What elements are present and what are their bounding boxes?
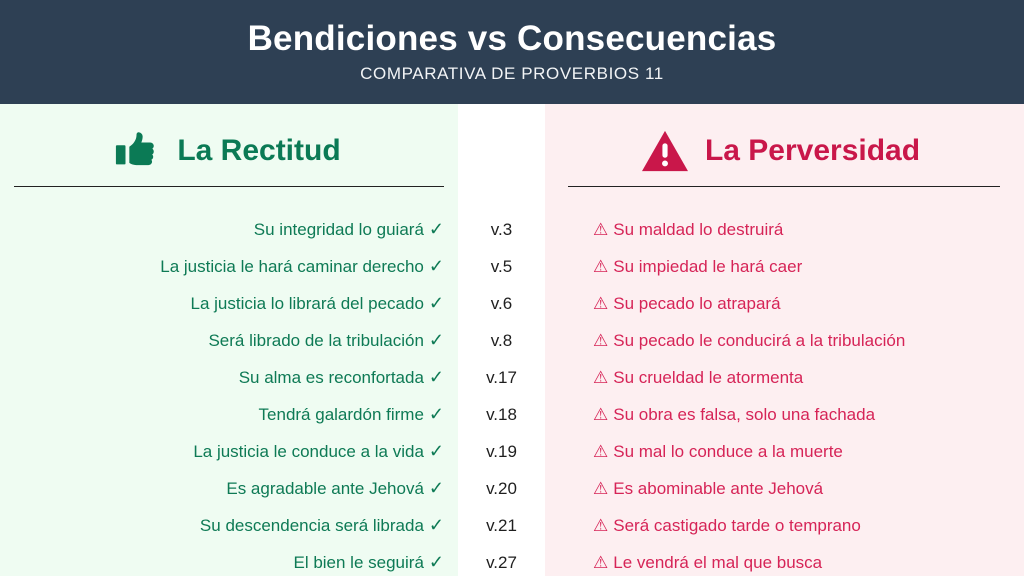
blessing-text: La justicia le hará caminar derecho (160, 257, 424, 276)
check-icon: ✓ (429, 256, 444, 276)
consequence-text: Su pecado le conducirá a la tribulación (613, 331, 905, 350)
table-row: Tendrá galardón firme✓v.18⚠Su obra es fa… (0, 396, 1024, 433)
left-header-divider (14, 186, 444, 187)
consequence-cell: ⚠Será castigado tarde o temprano (545, 516, 1024, 536)
blessing-text: Su descendencia será librada (200, 516, 424, 535)
page-subtitle: COMPARATIVA DE PROVERBIOS 11 (360, 65, 664, 84)
blessing-text: El bien le seguirá (293, 553, 423, 572)
consequence-text: Su mal lo conduce a la muerte (613, 442, 843, 461)
check-icon: ✓ (429, 330, 444, 350)
check-icon: ✓ (429, 478, 444, 498)
table-row: Será librado de la tribulación✓v.8⚠Su pe… (0, 322, 1024, 359)
check-icon: ✓ (429, 367, 444, 387)
table-row: La justicia le hará caminar derecho✓v.5⚠… (0, 248, 1024, 285)
right-column-header: La Perversidad (545, 122, 1024, 180)
title-band: Bendiciones vs Consecuencias COMPARATIVA… (0, 0, 1024, 104)
verse-label: v.5 (458, 257, 545, 277)
check-icon: ✓ (429, 515, 444, 535)
table-row: La justicia le conduce a la vida✓v.19⚠Su… (0, 433, 1024, 470)
blessing-cell: Es agradable ante Jehová✓ (0, 478, 458, 499)
left-column-header: La Rectitud (0, 122, 458, 180)
blessing-cell: La justicia le conduce a la vida✓ (0, 441, 458, 462)
consequence-cell: ⚠Su obra es falsa, solo una fachada (545, 405, 1024, 425)
consequence-text: Le vendrá el mal que busca (613, 553, 822, 572)
blessing-cell: La justicia lo librará del pecado✓ (0, 293, 458, 314)
table-row: Su alma es reconfortada✓v.17⚠Su crueldad… (0, 359, 1024, 396)
blessing-cell: Su descendencia será librada✓ (0, 515, 458, 536)
verse-label: v.19 (458, 442, 545, 462)
blessing-text: La justicia lo librará del pecado (190, 294, 423, 313)
thumbs-up-icon (111, 125, 163, 177)
consequence-cell: ⚠Su maldad lo destruirá (545, 220, 1024, 240)
consequence-cell: ⚠Su mal lo conduce a la muerte (545, 442, 1024, 462)
blessing-text: Tendrá galardón firme (259, 405, 424, 424)
right-header-divider (568, 186, 1000, 187)
warning-triangle-icon (639, 125, 691, 177)
blessing-cell: El bien le seguirá✓ (0, 552, 458, 573)
blessing-text: Es agradable ante Jehová (226, 479, 424, 498)
verse-label: v.3 (458, 220, 545, 240)
warning-icon: ⚠ (593, 553, 608, 572)
consequence-cell: ⚠Su impiedad le hará caer (545, 257, 1024, 277)
consequence-text: Su pecado lo atrapará (613, 294, 780, 313)
warning-icon: ⚠ (593, 479, 608, 498)
check-icon: ✓ (429, 404, 444, 424)
blessing-cell: Su integridad lo guiará✓ (0, 219, 458, 240)
blessing-cell: Tendrá galardón firme✓ (0, 404, 458, 425)
verse-label: v.20 (458, 479, 545, 499)
check-icon: ✓ (429, 293, 444, 313)
consequence-text: Su obra es falsa, solo una fachada (613, 405, 875, 424)
consequence-cell: ⚠Su pecado le conducirá a la tribulación (545, 331, 1024, 351)
blessing-cell: La justicia le hará caminar derecho✓ (0, 256, 458, 277)
comparison-slide: Bendiciones vs Consecuencias COMPARATIVA… (0, 0, 1024, 576)
warning-icon: ⚠ (593, 516, 608, 535)
verse-label: v.18 (458, 405, 545, 425)
warning-icon: ⚠ (593, 442, 608, 461)
table-row: La justicia lo librará del pecado✓v.6⚠Su… (0, 285, 1024, 322)
consequence-text: Será castigado tarde o temprano (613, 516, 861, 535)
warning-icon: ⚠ (593, 294, 608, 313)
blessing-cell: Será librado de la tribulación✓ (0, 330, 458, 351)
page-title: Bendiciones vs Consecuencias (248, 20, 777, 59)
blessing-text: Será librado de la tribulación (208, 331, 423, 350)
consequence-cell: ⚠Le vendrá el mal que busca (545, 553, 1024, 573)
consequence-cell: ⚠Es abominable ante Jehová (545, 479, 1024, 499)
table-row: Su descendencia será librada✓v.21⚠Será c… (0, 507, 1024, 544)
consequence-cell: ⚠Su pecado lo atrapará (545, 294, 1024, 314)
consequence-text: Es abominable ante Jehová (613, 479, 823, 498)
verse-label: v.27 (458, 553, 545, 573)
verse-label: v.21 (458, 516, 545, 536)
blessing-text: Su integridad lo guiará (254, 220, 424, 239)
right-column-label: La Perversidad (705, 136, 920, 166)
verse-label: v.6 (458, 294, 545, 314)
warning-icon: ⚠ (593, 368, 608, 387)
check-icon: ✓ (429, 552, 444, 572)
table-row: El bien le seguirá✓v.27⚠Le vendrá el mal… (0, 544, 1024, 581)
table-row: Su integridad lo guiará✓v.3⚠Su maldad lo… (0, 211, 1024, 248)
blessing-cell: Su alma es reconfortada✓ (0, 367, 458, 388)
check-icon: ✓ (429, 441, 444, 461)
table-row: Es agradable ante Jehová✓v.20⚠Es abomina… (0, 470, 1024, 507)
check-icon: ✓ (429, 219, 444, 239)
warning-icon: ⚠ (593, 405, 608, 424)
left-column-label: La Rectitud (177, 136, 340, 166)
verse-label: v.8 (458, 331, 545, 351)
consequence-text: Su impiedad le hará caer (613, 257, 802, 276)
blessing-text: La justicia le conduce a la vida (193, 442, 424, 461)
consequence-text: Su crueldad le atormenta (613, 368, 803, 387)
blessing-text: Su alma es reconfortada (239, 368, 424, 387)
warning-icon: ⚠ (593, 257, 608, 276)
consequence-cell: ⚠Su crueldad le atormenta (545, 368, 1024, 388)
consequence-text: Su maldad lo destruirá (613, 220, 783, 239)
comparison-rows: Su integridad lo guiará✓v.3⚠Su maldad lo… (0, 211, 1024, 581)
verse-label: v.17 (458, 368, 545, 388)
warning-icon: ⚠ (593, 331, 608, 350)
warning-icon: ⚠ (593, 220, 608, 239)
